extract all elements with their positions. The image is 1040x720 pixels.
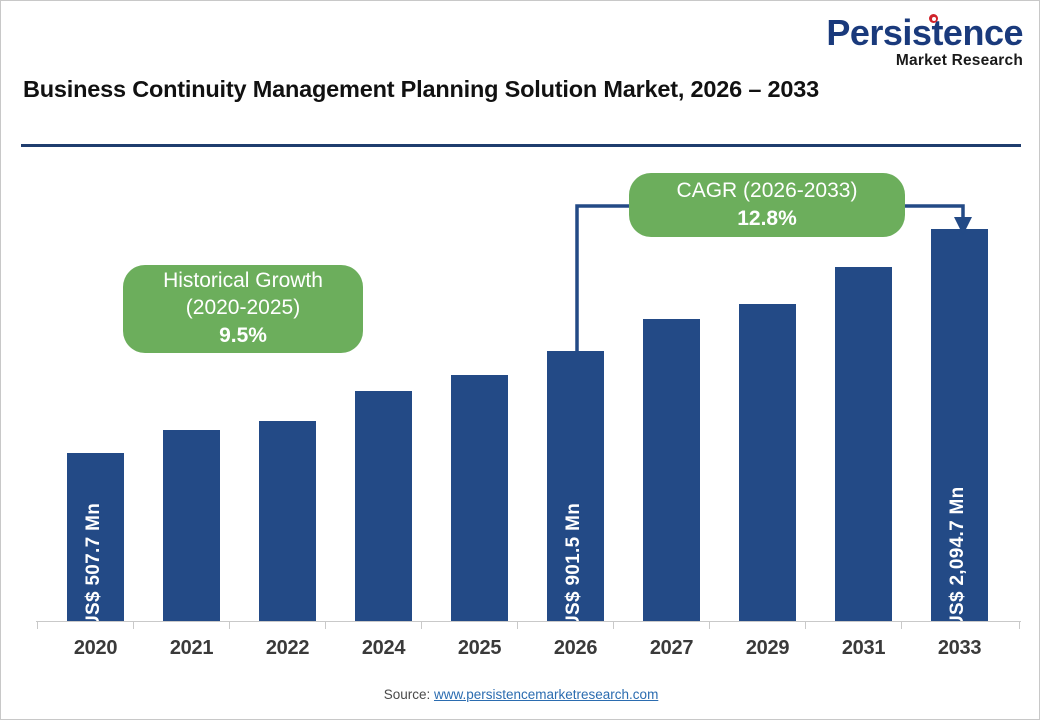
axis-tick-2025 bbox=[421, 621, 422, 629]
axis-tick-2024 bbox=[325, 621, 326, 629]
axis-tick-2020 bbox=[37, 621, 38, 629]
axis-tick-2021 bbox=[133, 621, 134, 629]
x-axis-label-2022: 2022 bbox=[243, 637, 333, 660]
x-axis-label-2027: 2027 bbox=[627, 637, 717, 660]
cagr-line1: CAGR (2026-2033) bbox=[677, 178, 858, 205]
bar-2022 bbox=[259, 421, 316, 621]
axis-tick-end bbox=[1019, 621, 1020, 629]
axis-tick-2031 bbox=[805, 621, 806, 629]
cagr-callout: CAGR (2026-2033) 12.8% bbox=[629, 173, 905, 237]
bar-value-label-2033: US$ 2,094.7 Mn bbox=[947, 486, 969, 629]
historical-growth-value: 9.5% bbox=[219, 322, 267, 349]
source-note: Source: www.persistencemarketresearch.co… bbox=[1, 687, 1040, 702]
bar-value-label-2020: US$ 507.7 Mn bbox=[83, 503, 105, 629]
source-link[interactable]: www.persistencemarketresearch.com bbox=[434, 687, 658, 702]
x-axis-label-2020: 2020 bbox=[51, 637, 141, 660]
axis-tick-2022 bbox=[229, 621, 230, 629]
bar-value-label-2026: US$ 901.5 Mn bbox=[563, 503, 585, 629]
historical-growth-line1: Historical Growth bbox=[163, 268, 323, 295]
historical-growth-line2: (2020-2025) bbox=[186, 295, 300, 322]
axis-tick-2033 bbox=[901, 621, 902, 629]
x-axis-line bbox=[36, 621, 1021, 622]
bar-2024 bbox=[355, 391, 412, 621]
historical-growth-callout: Historical Growth (2020-2025) 9.5% bbox=[123, 265, 363, 353]
x-axis-label-2025: 2025 bbox=[435, 637, 525, 660]
bar-chart: US$ 507.7 Mn20202021202220242025US$ 901.… bbox=[1, 1, 1040, 720]
cagr-value: 12.8% bbox=[737, 205, 797, 232]
x-axis-label-2021: 2021 bbox=[147, 637, 237, 660]
bar-2027 bbox=[643, 319, 700, 621]
x-axis-label-2026: 2026 bbox=[531, 637, 621, 660]
x-axis-label-2033: 2033 bbox=[915, 637, 1005, 660]
x-axis-label-2031: 2031 bbox=[819, 637, 909, 660]
axis-tick-2026 bbox=[517, 621, 518, 629]
infographic-canvas: Persistence Market Research Business Con… bbox=[0, 0, 1040, 720]
source-prefix: Source: bbox=[384, 687, 431, 702]
axis-tick-2029 bbox=[709, 621, 710, 629]
bar-2029 bbox=[739, 304, 796, 621]
x-axis-label-2024: 2024 bbox=[339, 637, 429, 660]
x-axis-label-2029: 2029 bbox=[723, 637, 813, 660]
bar-2031 bbox=[835, 267, 892, 621]
bar-2025 bbox=[451, 375, 508, 621]
axis-tick-2027 bbox=[613, 621, 614, 629]
bar-2021 bbox=[163, 430, 220, 621]
